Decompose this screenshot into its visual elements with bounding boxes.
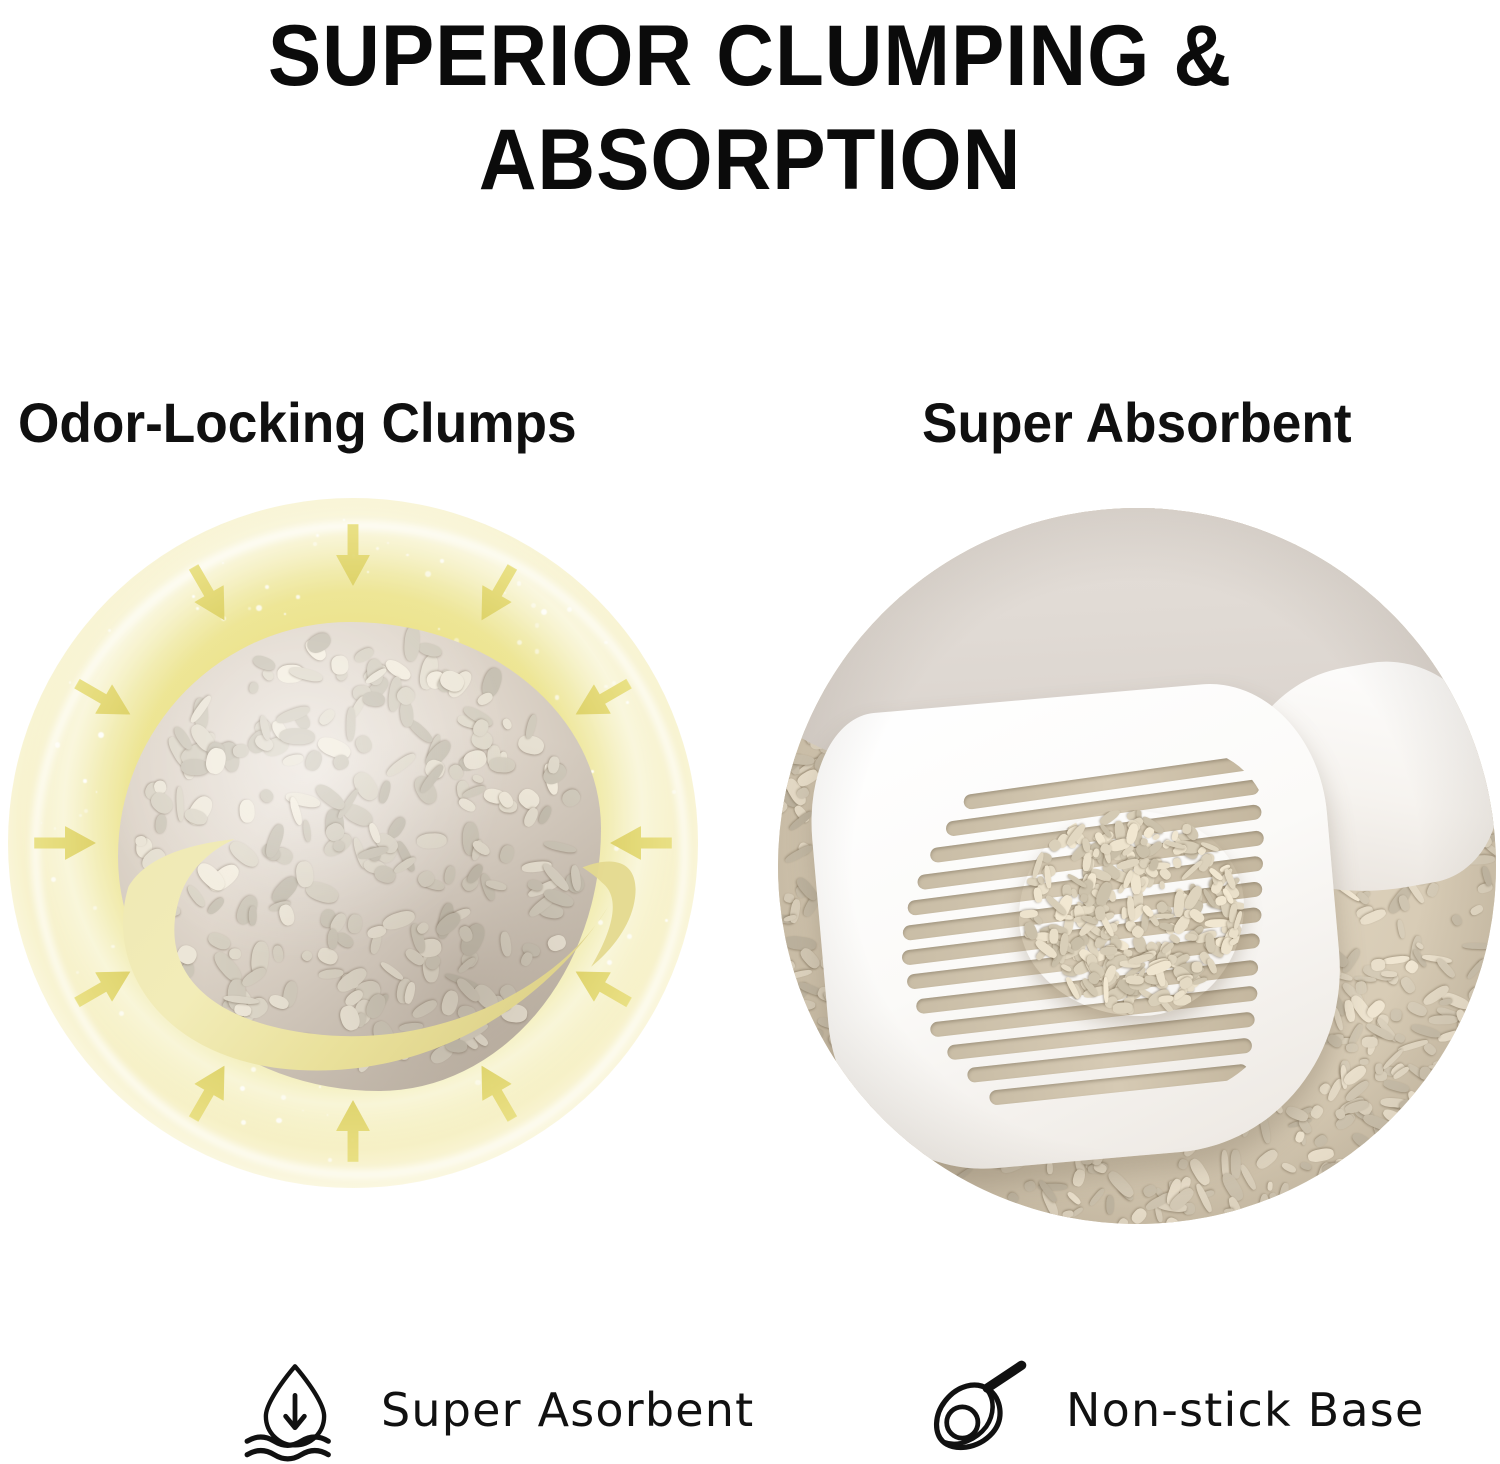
- litter-clump-blob: [118, 622, 601, 1091]
- photo-disc: [778, 508, 1496, 1224]
- feature-super-absorbent: Super Asorbent: [243, 1358, 754, 1462]
- litter-scoop-icon: [928, 1358, 1032, 1462]
- feature-label-non-stick-base: Non-stick Base: [1066, 1384, 1424, 1436]
- water-drop-absorb-icon: [243, 1358, 347, 1462]
- section-heading-super-absorbent: Super Absorbent: [922, 392, 1352, 454]
- page-title-line-2: ABSORPTION: [53, 108, 1448, 212]
- clump-shading: [118, 622, 601, 1091]
- page-title: SUPERIOR CLUMPING & ABSORPTION: [0, 0, 1500, 212]
- photo-vignette: [778, 508, 1496, 1224]
- feature-label-super-absorbent: Super Asorbent: [381, 1384, 754, 1436]
- section-heading-odor-locking-clumps: Odor-Locking Clumps: [18, 392, 577, 454]
- litter-scoop-photo: [778, 508, 1496, 1224]
- page-title-line-1: SUPERIOR CLUMPING &: [53, 4, 1448, 108]
- feature-non-stick-base: Non-stick Base: [928, 1358, 1424, 1462]
- clump-glow-illustration: [8, 498, 698, 1188]
